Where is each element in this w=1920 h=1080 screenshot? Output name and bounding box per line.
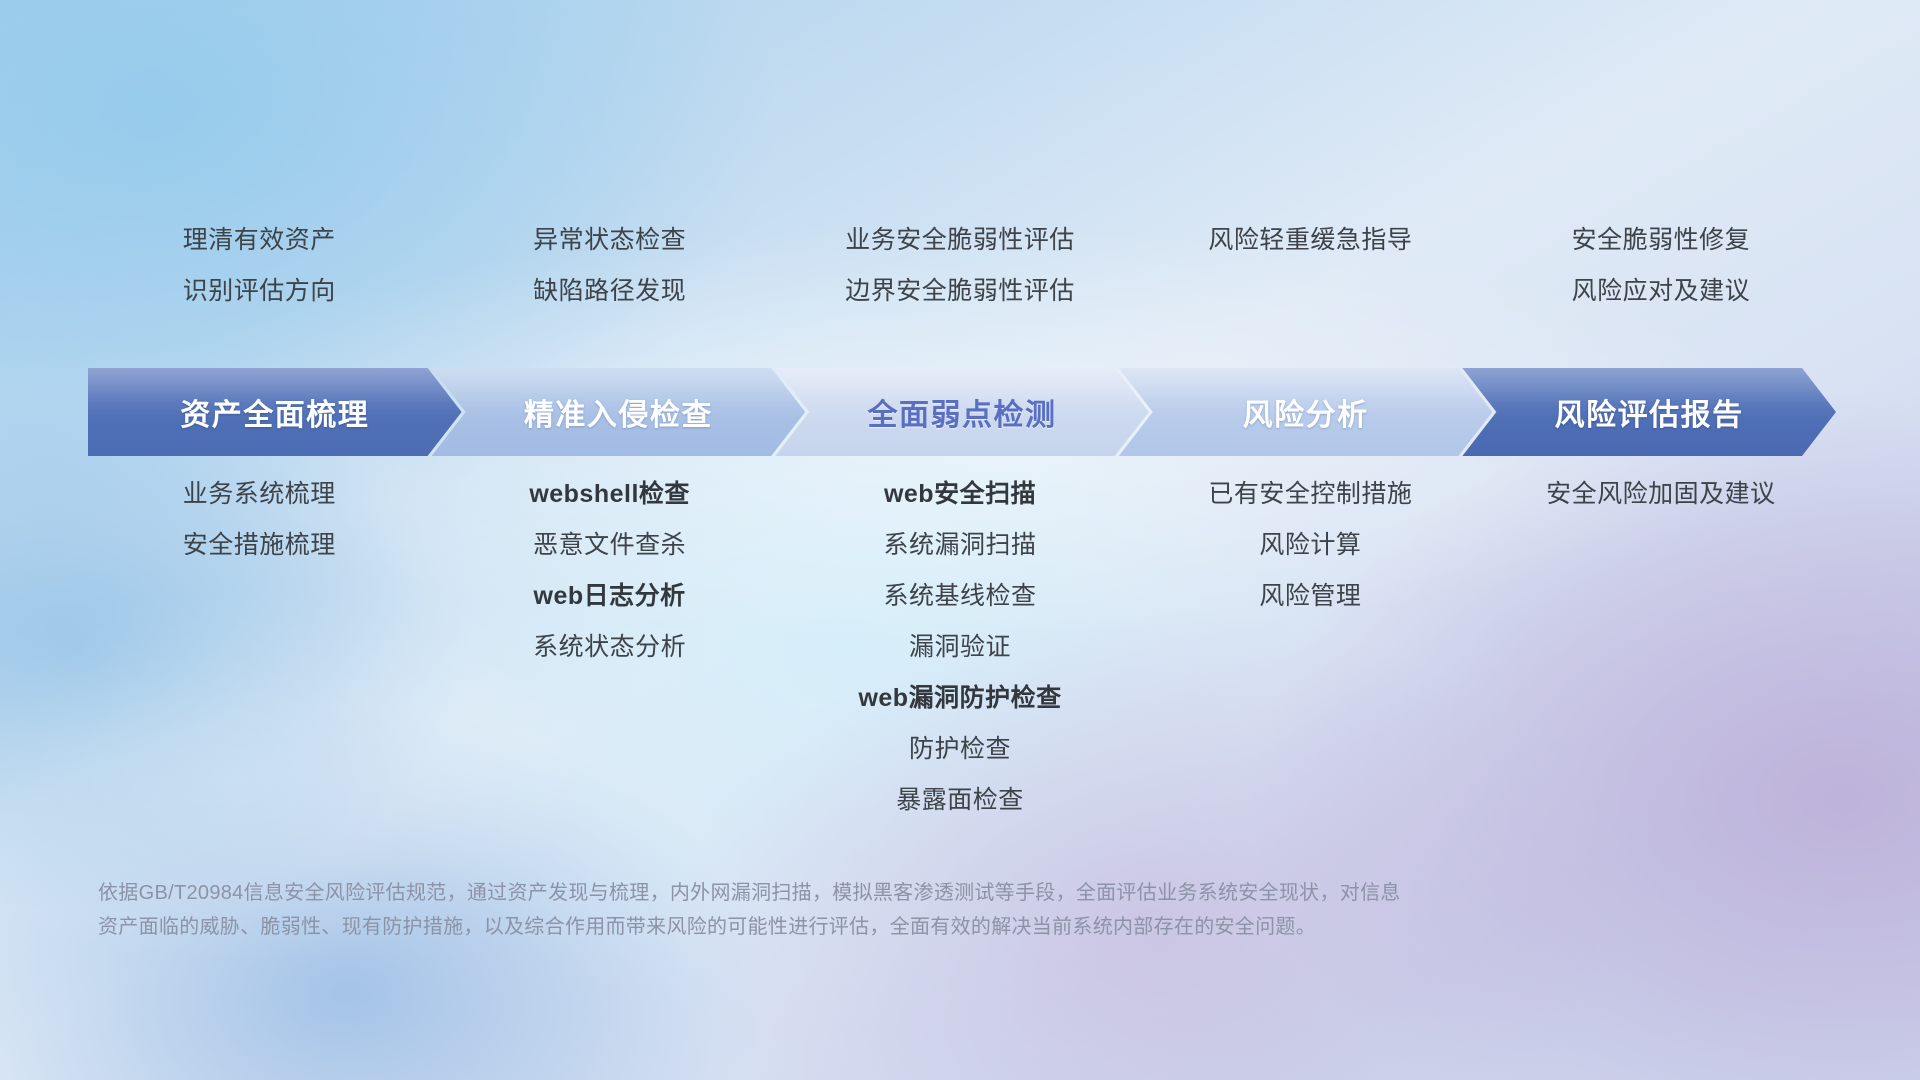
top-outcome-lists: 理清有效资产识别评估方向异常状态检查缺陷路径发现业务安全脆弱性评估边界安全脆弱性… (84, 228, 1836, 330)
stage-chevron-weakness-detection[interactable]: 全面弱点检测 (775, 368, 1149, 456)
bottom-list-weakness-detection: web安全扫描系统漏洞扫描系统基线检查漏洞验证web漏洞防护检查防护检查暴露面检… (785, 482, 1135, 839)
bottom-list-assessment-report: 安全风险加固及建议 (1486, 482, 1836, 839)
bottom-list-item: 防护检查 (909, 737, 1011, 762)
stage-chevron-assessment-report[interactable]: 风险评估报告 (1462, 368, 1836, 456)
stage-chevron-asset-inventory[interactable]: 资产全面梳理 (88, 368, 462, 456)
top-list-weakness-detection: 业务安全脆弱性评估边界安全脆弱性评估 (785, 228, 1135, 330)
stage-title: 精准入侵检查 (524, 390, 713, 434)
bottom-list-risk-analysis: 已有安全控制措施风险计算风险管理 (1135, 482, 1485, 839)
bottom-list-item: 暴露面检查 (896, 788, 1024, 813)
footer-line-1: 依据GB/T20984信息安全风险评估规范，通过资产发现与梳理，内外网漏洞扫描，… (98, 876, 1620, 910)
bottom-list-intrusion-inspection: webshell检查恶意文件查杀web日志分析系统状态分析 (434, 482, 784, 839)
bottom-list-item: 系统状态分析 (533, 635, 686, 660)
bottom-list-item: web漏洞防护检查 (858, 686, 1061, 711)
top-list-item: 安全脆弱性修复 (1572, 228, 1751, 253)
stage-chevron-band: 资产全面梳理精准入侵检查全面弱点检测风险分析风险评估报告 (88, 368, 1836, 456)
bottom-list-item: 风险管理 (1259, 584, 1361, 609)
bottom-list-item: 风险计算 (1259, 533, 1361, 558)
stage-title: 风险分析 (1243, 390, 1369, 434)
bottom-list-asset-inventory: 业务系统梳理安全措施梳理 (84, 482, 434, 839)
bottom-list-item: 漏洞验证 (909, 635, 1011, 660)
footer-description: 依据GB/T20984信息安全风险评估规范，通过资产发现与梳理，内外网漏洞扫描，… (98, 876, 1620, 944)
bottom-list-item: 已有安全控制措施 (1208, 482, 1412, 507)
footer-line-2: 资产面临的威胁、脆弱性、现有防护措施，以及综合作用而带来风险的可能性进行评估，全… (98, 910, 1620, 944)
top-list-risk-analysis: 风险轻重缓急指导 (1135, 228, 1485, 330)
top-list-item: 缺陷路径发现 (533, 279, 686, 304)
top-list-item: 理清有效资产 (183, 228, 336, 253)
stage-title: 资产全面梳理 (180, 390, 369, 434)
bottom-list-item: 系统基线检查 (884, 584, 1037, 609)
stage-chevron-risk-analysis[interactable]: 风险分析 (1119, 368, 1493, 456)
bottom-list-item: 业务系统梳理 (183, 482, 336, 507)
top-list-item: 业务安全脆弱性评估 (845, 228, 1075, 253)
bottom-list-item: 安全措施梳理 (183, 533, 336, 558)
top-list-assessment-report: 安全脆弱性修复风险应对及建议 (1486, 228, 1836, 330)
bottom-list-item: web安全扫描 (884, 482, 1036, 507)
stage-chevron-intrusion-inspection[interactable]: 精准入侵检查 (432, 368, 806, 456)
top-list-item: 风险应对及建议 (1572, 279, 1751, 304)
bottom-list-item: web日志分析 (534, 584, 686, 609)
stage-title: 全面弱点检测 (867, 390, 1056, 434)
bottom-list-item: 安全风险加固及建议 (1546, 482, 1776, 507)
process-diagram: 理清有效资产识别评估方向异常状态检查缺陷路径发现业务安全脆弱性评估边界安全脆弱性… (0, 0, 1920, 1080)
bottom-list-item: 恶意文件查杀 (533, 533, 686, 558)
top-list-intrusion-inspection: 异常状态检查缺陷路径发现 (434, 228, 784, 330)
top-list-item: 识别评估方向 (183, 279, 336, 304)
bottom-activity-lists: 业务系统梳理安全措施梳理webshell检查恶意文件查杀web日志分析系统状态分… (84, 482, 1836, 839)
top-list-item: 风险轻重缓急指导 (1208, 228, 1412, 253)
top-list-item: 边界安全脆弱性评估 (845, 279, 1075, 304)
top-list-item: 异常状态检查 (533, 228, 686, 253)
bottom-list-item: 系统漏洞扫描 (884, 533, 1037, 558)
top-list-asset-inventory: 理清有效资产识别评估方向 (84, 228, 434, 330)
bottom-list-item: webshell检查 (529, 482, 690, 507)
stage-title: 风险评估报告 (1555, 390, 1744, 434)
